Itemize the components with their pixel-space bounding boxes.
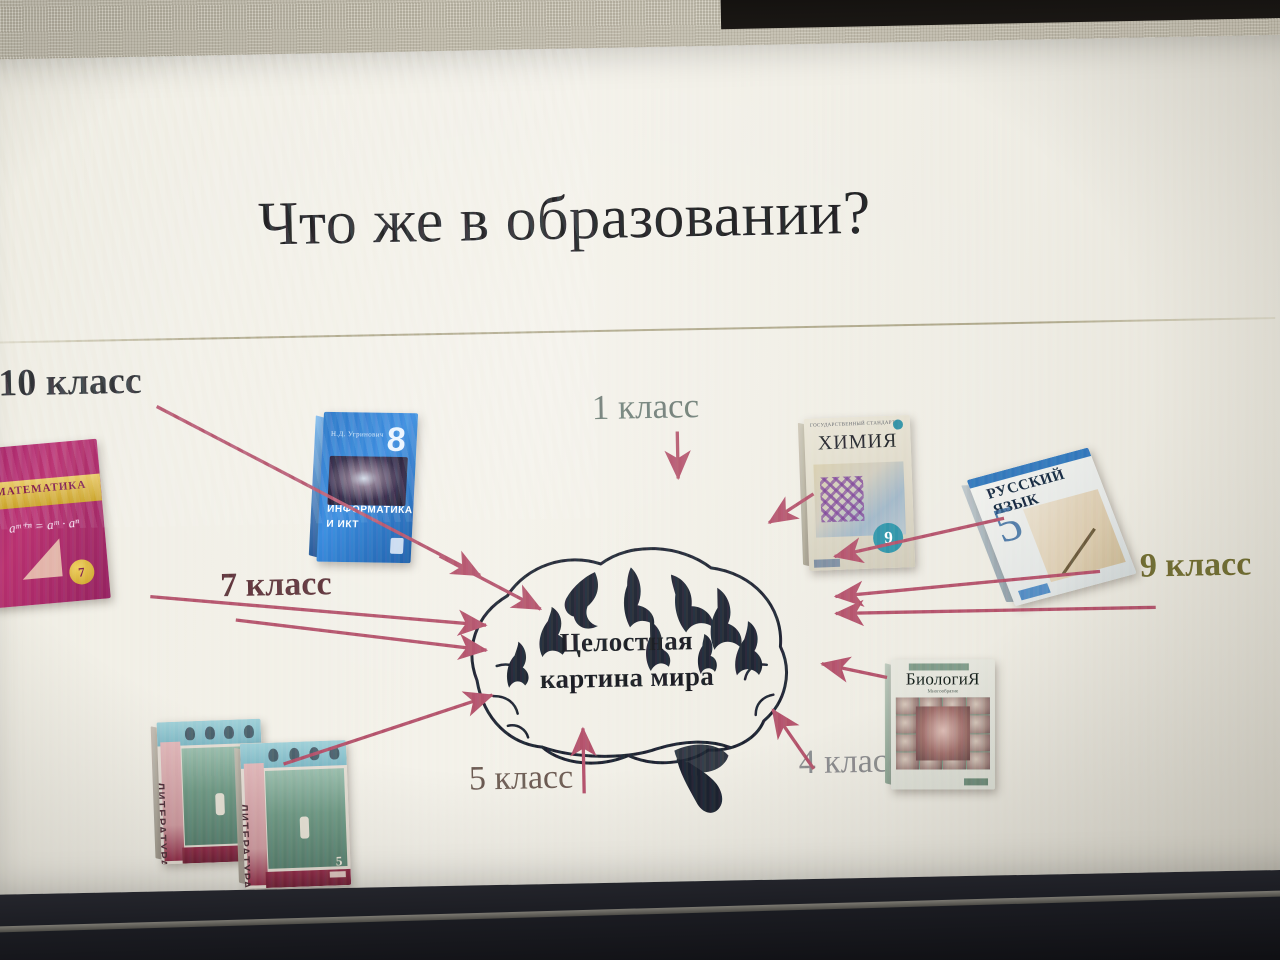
arrow-russian xyxy=(834,518,1005,556)
presentation-slide: Что же в образовании? 10 класс 7 класс 1… xyxy=(0,34,1280,895)
arrow-grade-9-lower xyxy=(836,607,1156,613)
photographed-screen: Что же в образовании? 10 класс 7 класс 1… xyxy=(0,0,1280,960)
arrow-grade-5 xyxy=(583,728,584,793)
arrow-informatics xyxy=(440,554,541,611)
arrow-layer xyxy=(0,34,1280,895)
arrow-chemistry xyxy=(768,494,814,523)
arrow-biology xyxy=(822,663,887,679)
arrow-math xyxy=(150,590,486,631)
arrow-grade-4 xyxy=(773,709,814,770)
arrow-literature xyxy=(282,695,493,764)
arrow-grade-10 xyxy=(157,400,480,581)
arrow-grade-1 xyxy=(677,431,678,478)
arrow-grade-9-upper xyxy=(835,571,1100,596)
